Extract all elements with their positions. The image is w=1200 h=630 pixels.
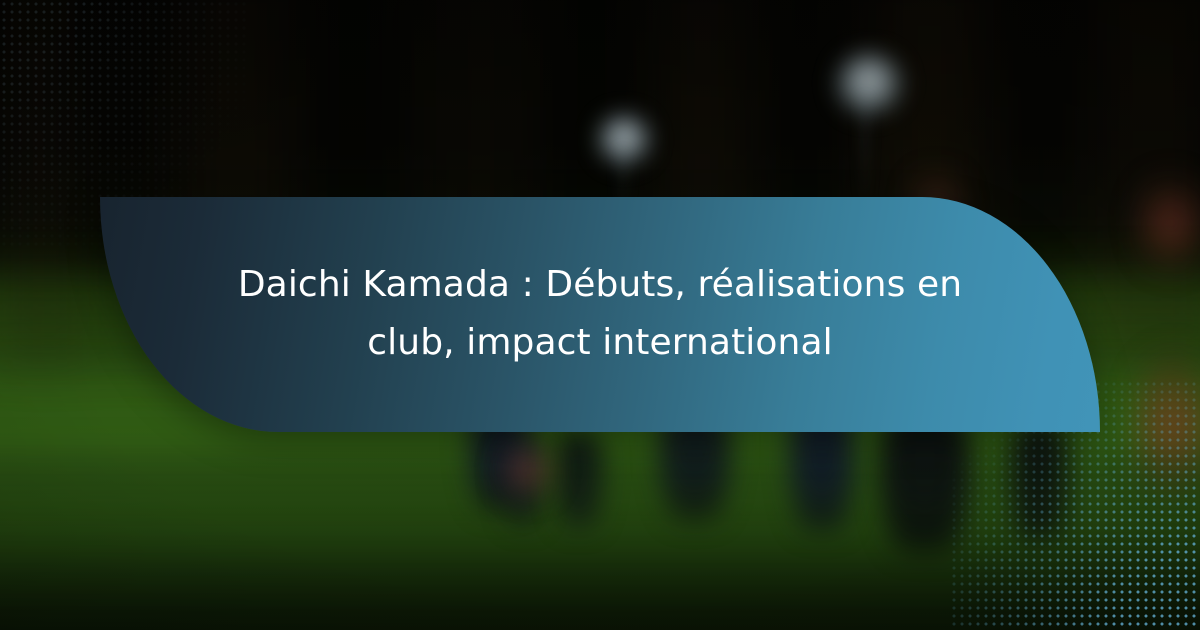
title-banner: Daichi Kamada : Débuts, réalisations en … [100, 197, 1100, 432]
social-card: Daichi Kamada : Débuts, réalisations en … [0, 0, 1200, 630]
page-title: Daichi Kamada : Débuts, réalisations en … [190, 256, 1010, 374]
